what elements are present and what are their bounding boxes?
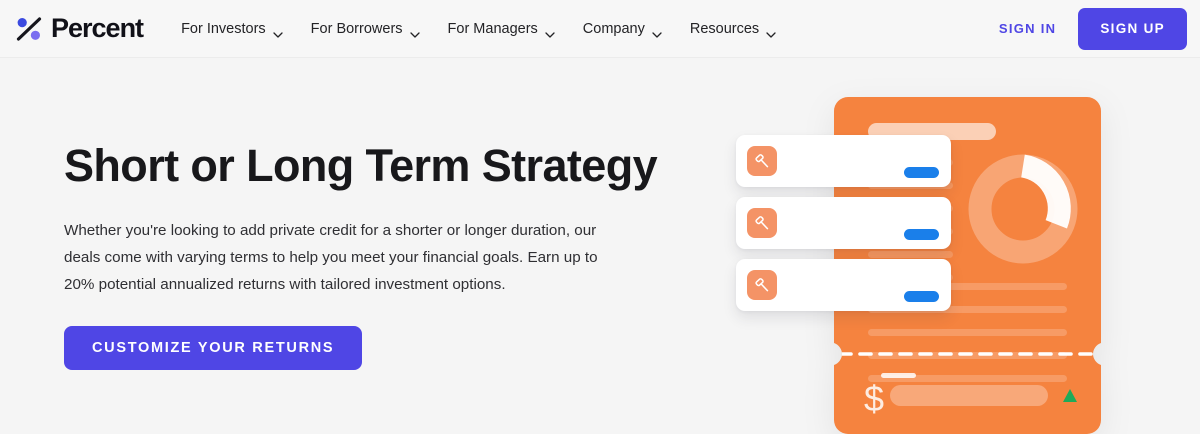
nav-label: For Managers (448, 21, 538, 37)
site-header: Percent For Investors For Borrowers For … (0, 0, 1200, 58)
gavel-icon (747, 208, 777, 238)
nav-item-resources[interactable]: Resources (676, 21, 790, 37)
deal-card[interactable] (736, 197, 951, 249)
nav-label: For Borrowers (311, 21, 403, 37)
nav-label: For Investors (181, 21, 266, 37)
deal-card-list (715, 80, 1135, 434)
nav-item-for-managers[interactable]: For Managers (434, 21, 569, 37)
sign-in-link[interactable]: SIGN IN (977, 21, 1079, 36)
header-actions: SIGN IN SIGN UP (977, 8, 1187, 50)
brand-name: Percent (51, 15, 143, 42)
deal-card[interactable] (736, 135, 951, 187)
nav-item-company[interactable]: Company (569, 21, 676, 37)
page-root: Percent For Investors For Borrowers For … (0, 0, 1200, 434)
sign-up-button[interactable]: SIGN UP (1078, 8, 1187, 50)
gavel-icon (747, 146, 777, 176)
nav-label: Company (583, 21, 645, 37)
gavel-icon (747, 270, 777, 300)
blue-pill-button[interactable] (904, 167, 939, 178)
deal-card[interactable] (736, 259, 951, 311)
main-nav: For Investors For Borrowers For Managers… (167, 21, 790, 37)
percent-logo-icon (14, 14, 44, 44)
brand-logo[interactable]: Percent (14, 14, 143, 44)
chevron-down-icon (766, 26, 776, 32)
chevron-down-icon (652, 26, 662, 32)
chevron-down-icon (545, 26, 555, 32)
hero-copy: Short or Long Term Strategy Whether you'… (64, 140, 664, 370)
chevron-down-icon (273, 26, 283, 32)
blue-pill-button[interactable] (904, 291, 939, 302)
chevron-down-icon (410, 26, 420, 32)
page-title: Short or Long Term Strategy (64, 140, 664, 191)
investment-document-illustration: $ (715, 80, 1135, 434)
nav-item-for-borrowers[interactable]: For Borrowers (297, 21, 434, 37)
nav-item-for-investors[interactable]: For Investors (167, 21, 297, 37)
nav-label: Resources (690, 21, 759, 37)
customize-your-returns-button[interactable]: CUSTOMIZE YOUR RETURNS (64, 326, 362, 370)
blue-pill-button[interactable] (904, 229, 939, 240)
hero-description: Whether you're looking to add private cr… (64, 217, 624, 298)
